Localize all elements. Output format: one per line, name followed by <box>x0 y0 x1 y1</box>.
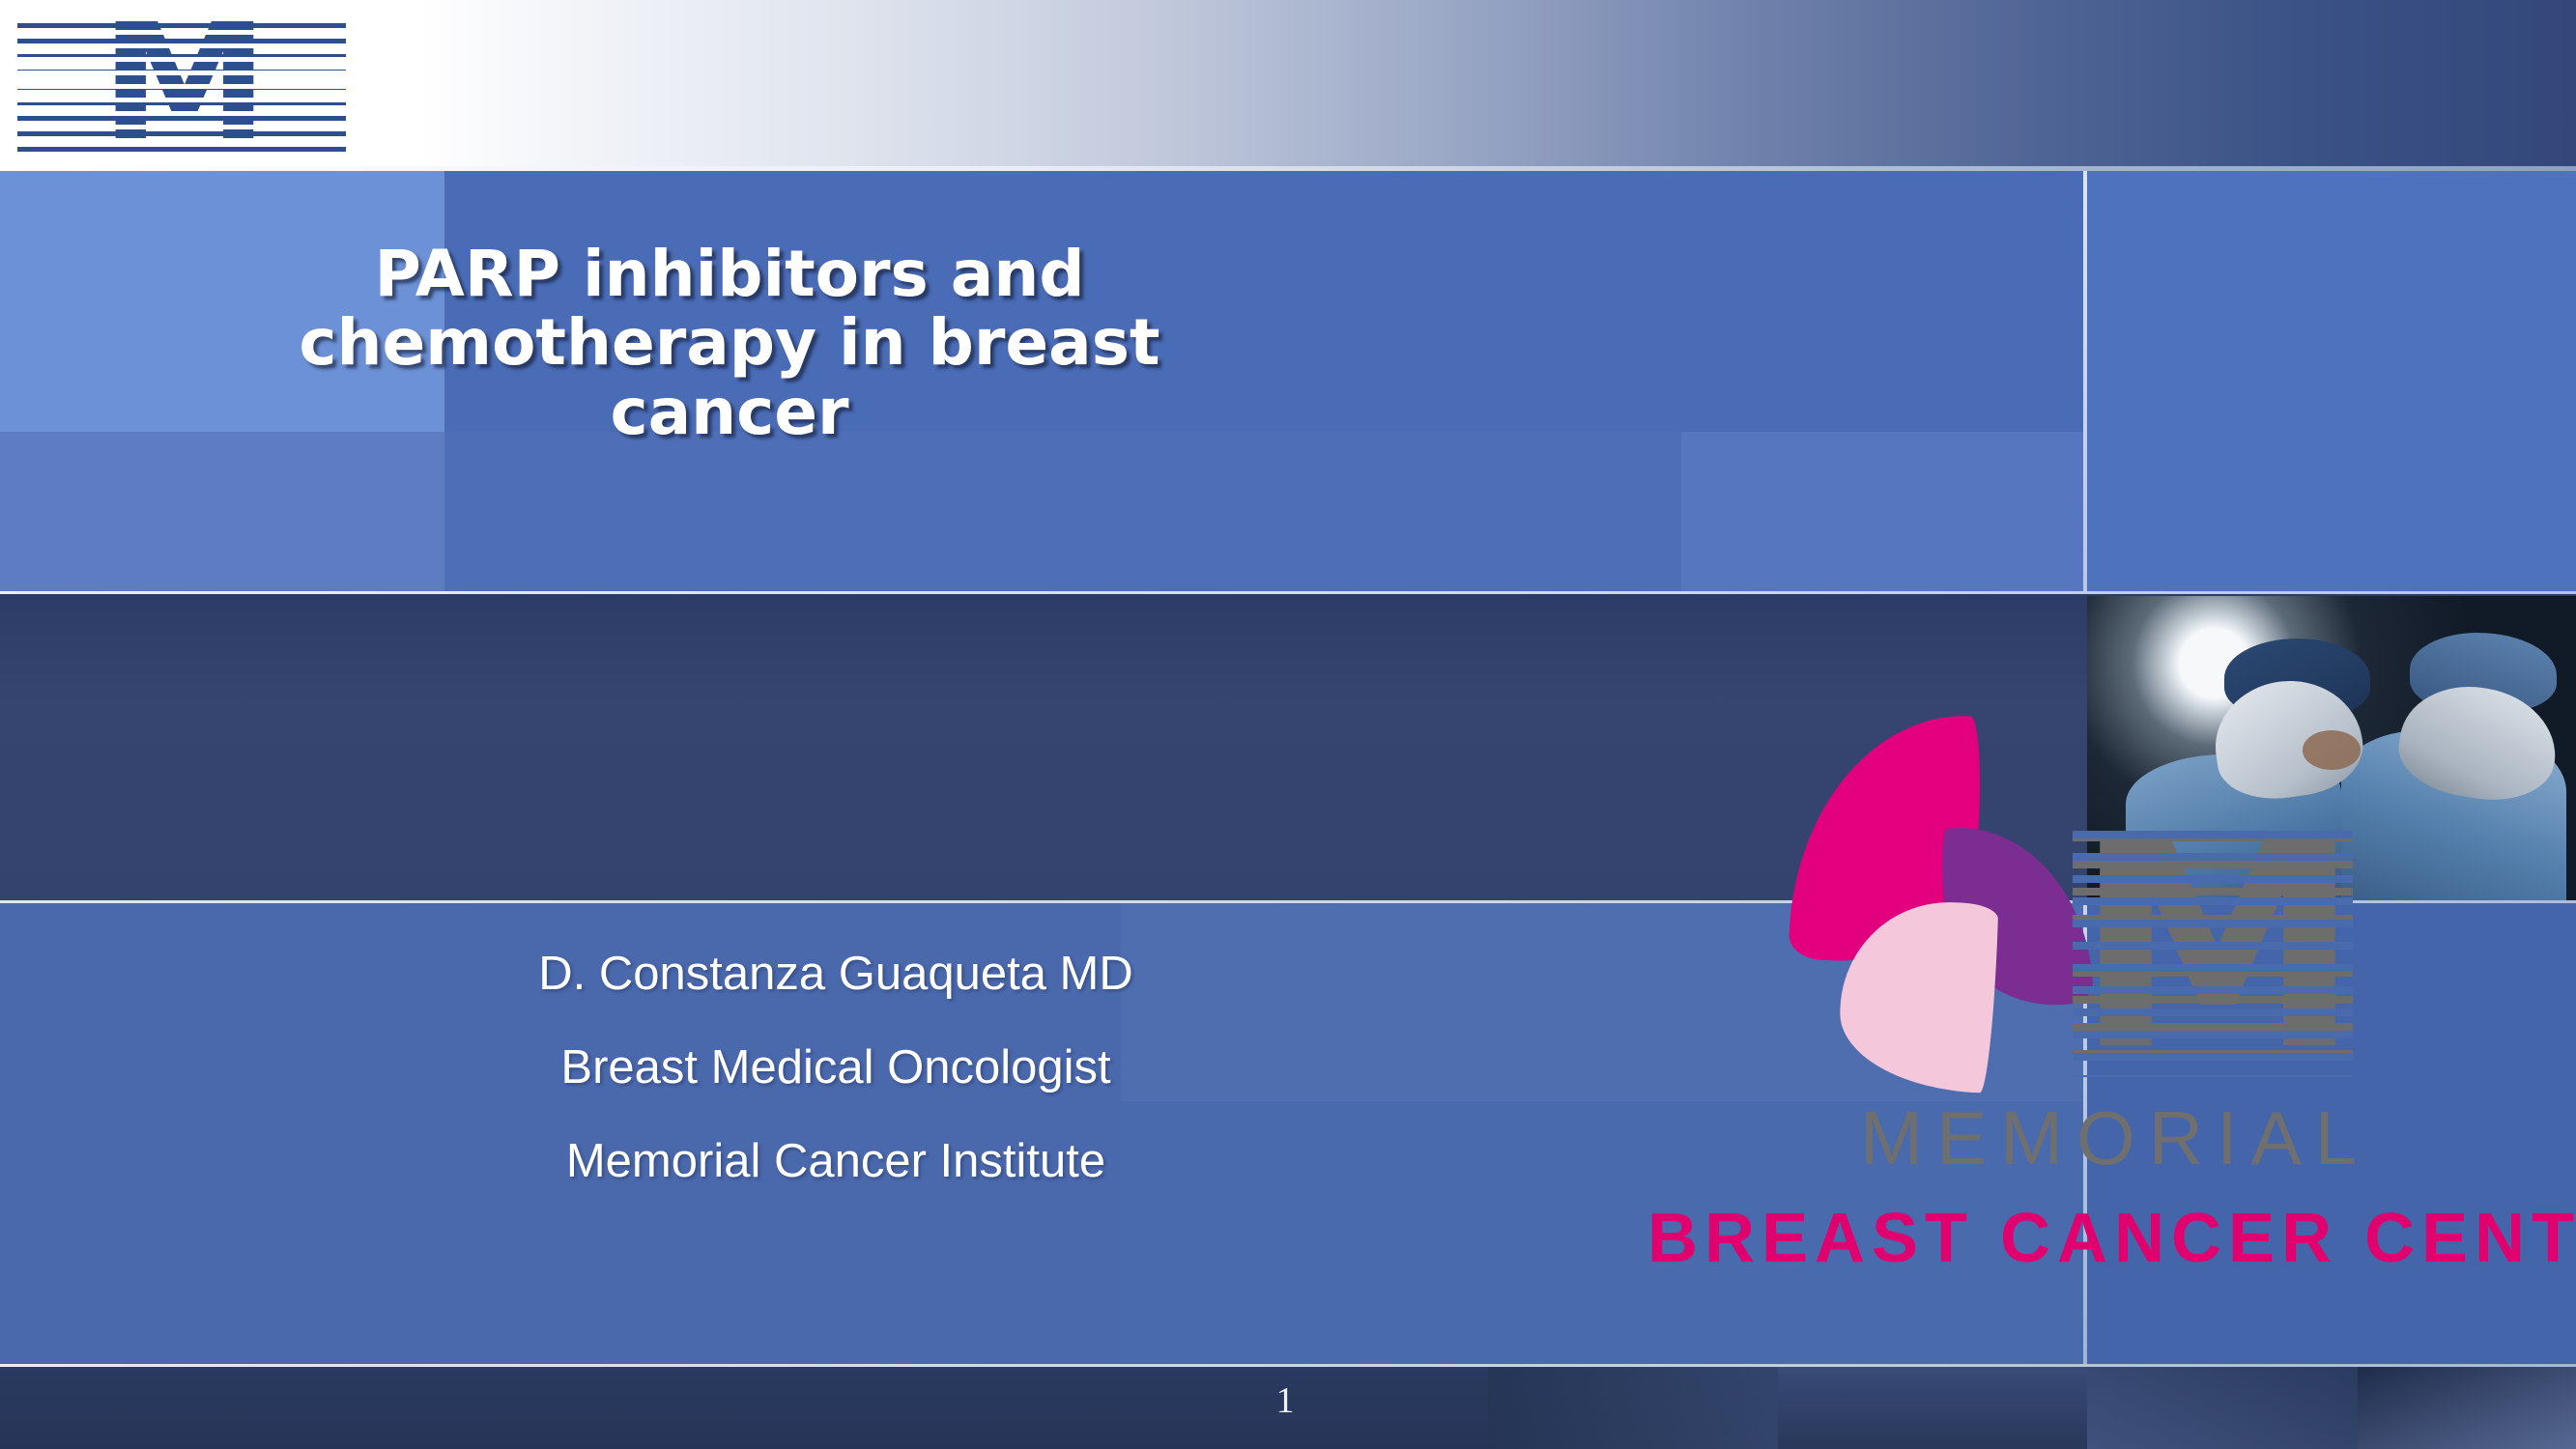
brand-m-logo-icon: M <box>2073 816 2353 1077</box>
author-block: D. Constanza Guaqueta MD Breast Medical … <box>280 927 1391 1208</box>
author-institution: Memorial Cancer Institute <box>280 1115 1391 1208</box>
brand-subtitle: BREAST CANCER CENTER <box>1647 1199 2576 1278</box>
brand-wordmark: MEMORIAL <box>1860 1094 2575 1182</box>
footer-texture-2 <box>1778 1367 2087 1449</box>
slide-header-band: M <box>0 0 2576 169</box>
bg-tile-d <box>444 432 1681 594</box>
footer-texture-4 <box>2358 1367 2576 1449</box>
footer-texture-3 <box>2087 1367 2358 1449</box>
page-number: 1 <box>1208 1379 1362 1422</box>
vertical-divider-top <box>2083 171 2087 594</box>
memorial-m-logo-icon: M <box>17 8 346 160</box>
footer-texture-1 <box>1488 1367 1778 1449</box>
logo-letter: M <box>17 8 346 160</box>
author-name: D. Constanza Guaqueta MD <box>280 927 1391 1021</box>
brand-logo-letter: M <box>2073 816 2353 1077</box>
slide-title: PARP inhibitors and chemotherapy in brea… <box>126 240 1333 446</box>
presentation-slide: M PARP inhibitors and chemotherapy in br… <box>0 0 2576 1449</box>
bg-tile-c <box>0 432 444 594</box>
bg-tile-f <box>2087 171 2576 594</box>
title-line-2: chemotherapy in breast <box>126 308 1333 377</box>
title-line-1: PARP inhibitors and <box>126 240 1333 308</box>
bg-tile-e <box>1681 432 2087 594</box>
ribbon-leaves-icon <box>1792 710 2102 1096</box>
memorial-breast-cancer-center-logo: M MEMORIAL BREAST CANCER CENTER <box>1783 710 2575 1328</box>
title-line-3: cancer <box>126 378 1333 446</box>
author-role: Breast Medical Oncologist <box>280 1021 1391 1115</box>
